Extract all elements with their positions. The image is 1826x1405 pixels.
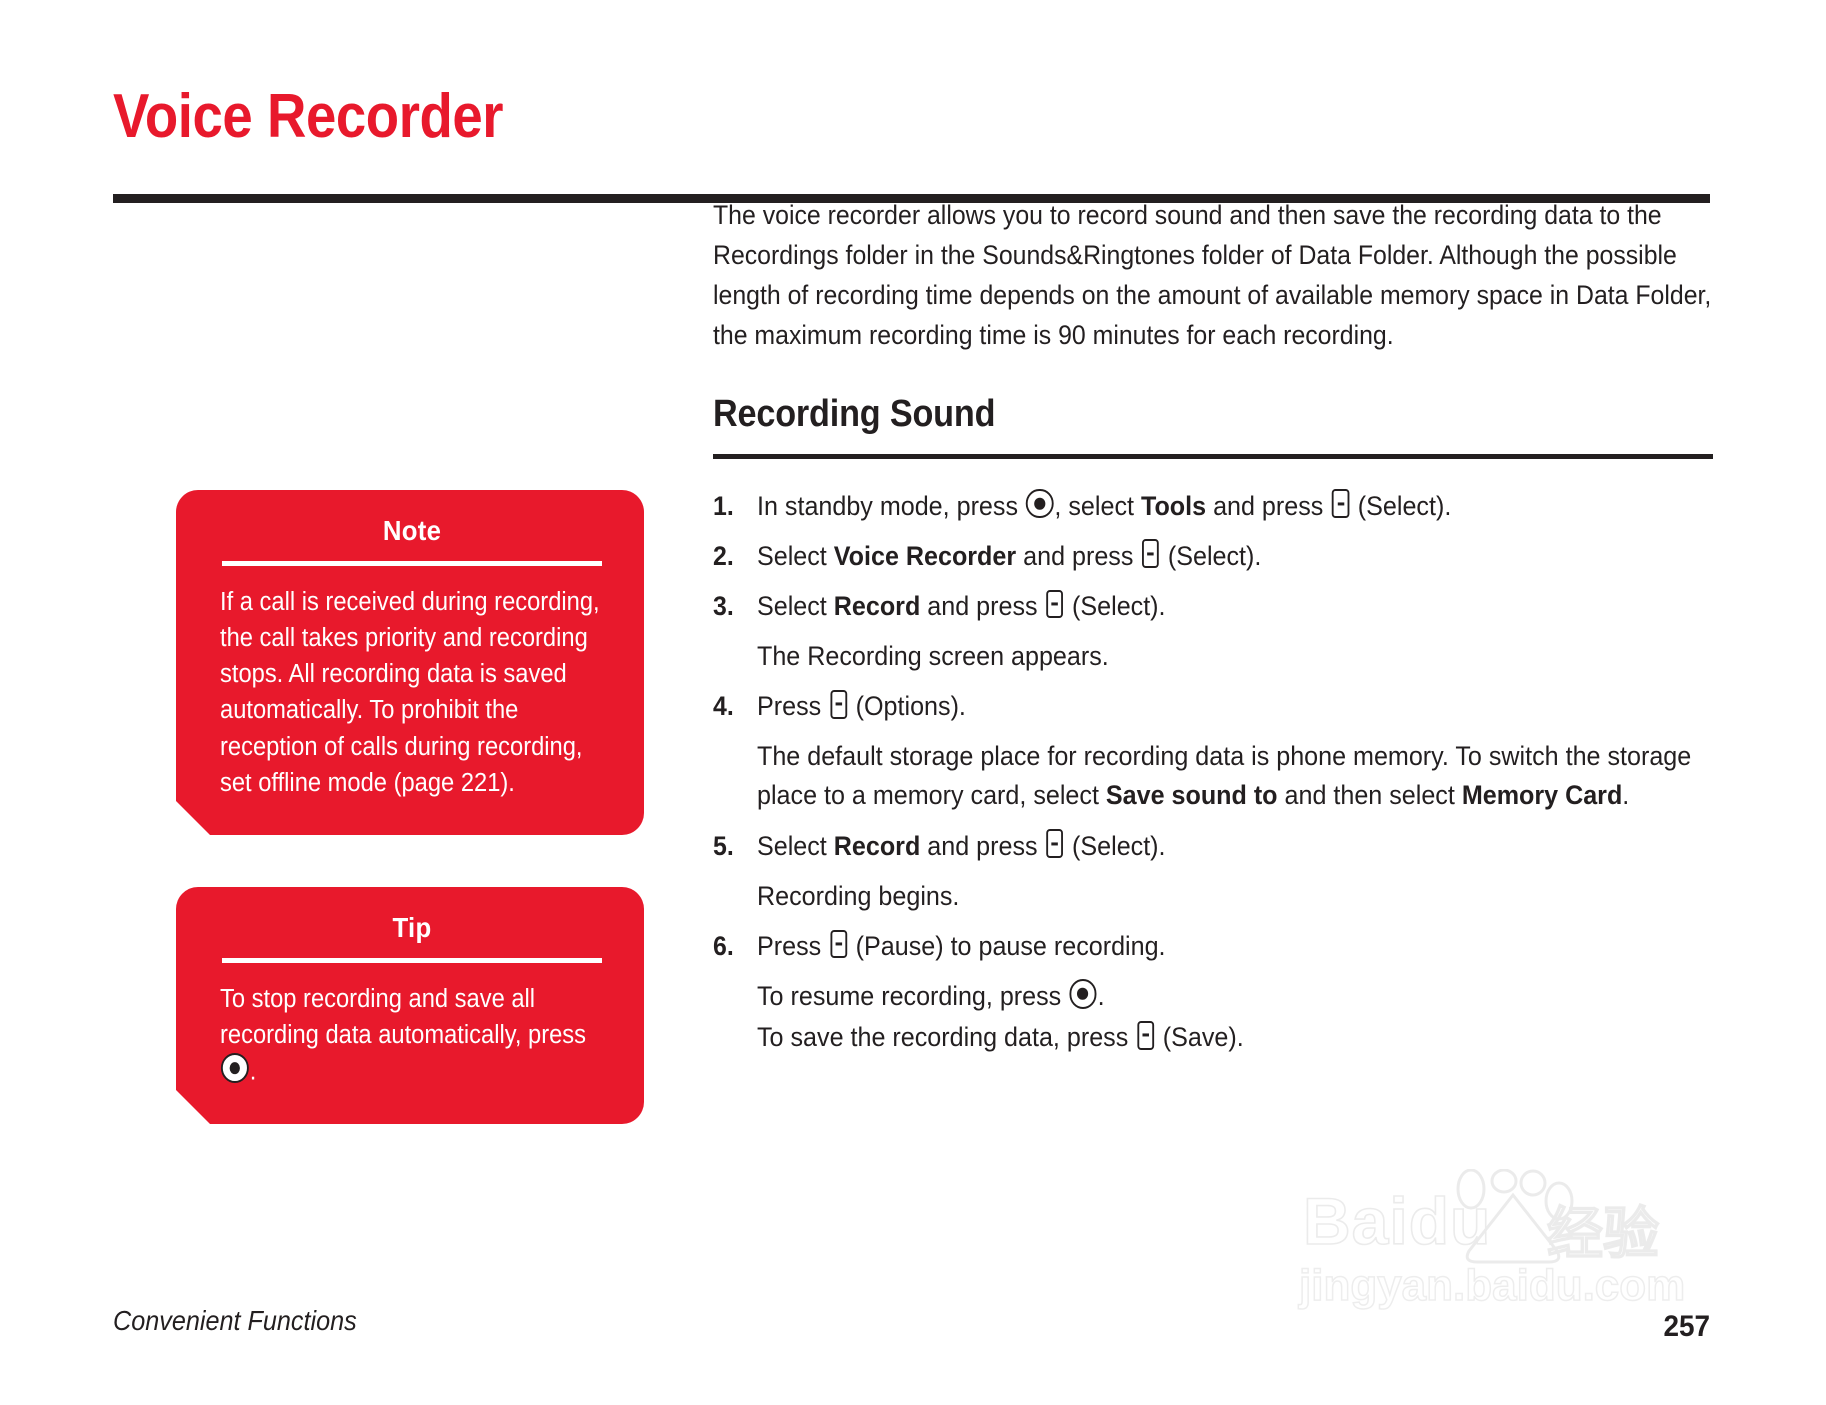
step-text-fragment: and press: [927, 831, 1037, 861]
step-text-fragment: (Save).: [1163, 1022, 1244, 1052]
step-body: Select Record and press (Select).: [757, 587, 1646, 626]
step-item: 3. Select Record and press (Select).: [713, 587, 1713, 626]
step-text-fragment: (Options).: [856, 691, 966, 721]
step-text-fragment: (Select).: [1358, 491, 1451, 521]
step-text-fragment: (Select).: [1072, 831, 1165, 861]
step-text-fragment: , select: [1054, 491, 1134, 521]
step-body: In standby mode, press , select Tools an…: [757, 487, 1646, 526]
step-number: 4.: [713, 687, 753, 726]
section-heading: Recording Sound: [713, 394, 1613, 436]
step-text-fragment: .: [1622, 780, 1629, 810]
tip-callout: Tip To stop recording and save all recor…: [176, 887, 644, 1124]
page-title: Voice Recorder: [113, 86, 503, 148]
step-body: Press (Pause) to pause recording.: [757, 927, 1646, 966]
center-key-icon: [221, 1053, 249, 1083]
step-note: Recording begins.: [757, 877, 1757, 916]
content-column: The voice recorder allows you to record …: [713, 196, 1713, 1068]
soft-key-icon: [1332, 489, 1349, 518]
footer-page-number: 257: [1663, 1310, 1710, 1344]
note-callout: Note If a call is received during record…: [176, 490, 644, 835]
step-number: 6.: [713, 927, 753, 966]
section-divider: [713, 454, 1713, 459]
step-body: Select Voice Recorder and press (Select)…: [757, 537, 1646, 576]
step-item: 6. Press (Pause) to pause recording.: [713, 927, 1713, 966]
step-note: To save the recording data, press (Save)…: [757, 1018, 1757, 1057]
step-item: 1. In standby mode, press , select Tools…: [713, 487, 1713, 526]
step-text-fragment: In standby mode, press: [757, 491, 1018, 521]
callout-column: Note If a call is received during record…: [176, 490, 644, 1176]
tip-callout-body: To stop recording and save all recording…: [220, 981, 604, 1090]
step-note: To resume recording, press .: [757, 977, 1757, 1016]
tip-callout-title: Tip: [235, 913, 588, 954]
center-key-icon: [1026, 489, 1054, 519]
footer-chapter: Convenient Functions: [113, 1305, 357, 1337]
soft-key-icon: [1046, 590, 1063, 619]
soft-key-icon: [830, 690, 847, 719]
soft-key-icon: [1142, 539, 1159, 568]
note-callout-divider: [222, 561, 602, 566]
step-emphasis: Record: [834, 831, 921, 861]
step-number: 5.: [713, 827, 753, 866]
step-item: 5. Select Record and press (Select).: [713, 827, 1713, 866]
watermark-brand-cn: 经验: [1547, 1189, 1659, 1270]
step-emphasis: Tools: [1141, 491, 1206, 521]
note-callout-title: Note: [235, 516, 588, 557]
step-emphasis: Memory Card: [1462, 780, 1622, 810]
step-text-fragment: Press: [757, 931, 821, 961]
note-callout-body: If a call is received during recording, …: [220, 584, 604, 801]
step-text-fragment: To resume recording, press: [757, 981, 1061, 1011]
step-text-fragment: (Select).: [1168, 541, 1261, 571]
manual-page: Voice Recorder Note If a call is receive…: [0, 0, 1826, 1405]
step-emphasis: Voice Recorder: [834, 541, 1016, 571]
watermark-brand: Baidu: [1303, 1183, 1491, 1259]
step-number: 3.: [713, 587, 753, 626]
baidu-watermark: Baidu 经验 jingyan.baidu.com: [1295, 1175, 1725, 1345]
step-item: 2. Select Voice Recorder and press (Sele…: [713, 537, 1713, 576]
intro-paragraph: The voice recorder allows you to record …: [713, 196, 1712, 356]
tip-callout-text-end: .: [250, 1058, 257, 1086]
step-item: 4. Press (Options).: [713, 687, 1713, 726]
step-text-fragment: and then select: [1285, 780, 1455, 810]
soft-key-icon: [1137, 1021, 1154, 1050]
step-text-fragment: and press: [927, 591, 1037, 621]
step-text-fragment: Press: [757, 691, 821, 721]
step-text-fragment: .: [1098, 981, 1105, 1011]
step-text-fragment: Select: [757, 591, 827, 621]
step-text-fragment: Select: [757, 541, 827, 571]
step-text-fragment: (Pause) to pause recording.: [856, 931, 1166, 961]
tip-callout-divider: [222, 958, 602, 963]
step-text-fragment: Select: [757, 831, 827, 861]
soft-key-icon: [830, 930, 847, 959]
center-key-icon: [1069, 979, 1097, 1009]
step-note: The default storage place for recording …: [757, 737, 1757, 815]
baidu-paw-icon: [1441, 1169, 1581, 1269]
soft-key-icon: [1046, 829, 1063, 858]
step-body: Select Record and press (Select).: [757, 827, 1646, 866]
step-text-fragment: and press: [1213, 491, 1323, 521]
step-text-fragment: and press: [1023, 541, 1133, 571]
step-number: 1.: [713, 487, 753, 526]
step-emphasis: Record: [834, 591, 921, 621]
step-text-fragment: (Select).: [1072, 591, 1165, 621]
tip-callout-text: To stop recording and save all recording…: [220, 985, 586, 1049]
step-text-fragment: To save the recording data, press: [757, 1022, 1128, 1052]
step-emphasis: Save sound to: [1106, 780, 1278, 810]
watermark-url: jingyan.baidu.com: [1299, 1261, 1685, 1311]
step-body: Press (Options).: [757, 687, 1646, 726]
step-note: The Recording screen appears.: [757, 637, 1757, 676]
step-number: 2.: [713, 537, 753, 576]
steps-list: 1. In standby mode, press , select Tools…: [713, 487, 1713, 1058]
